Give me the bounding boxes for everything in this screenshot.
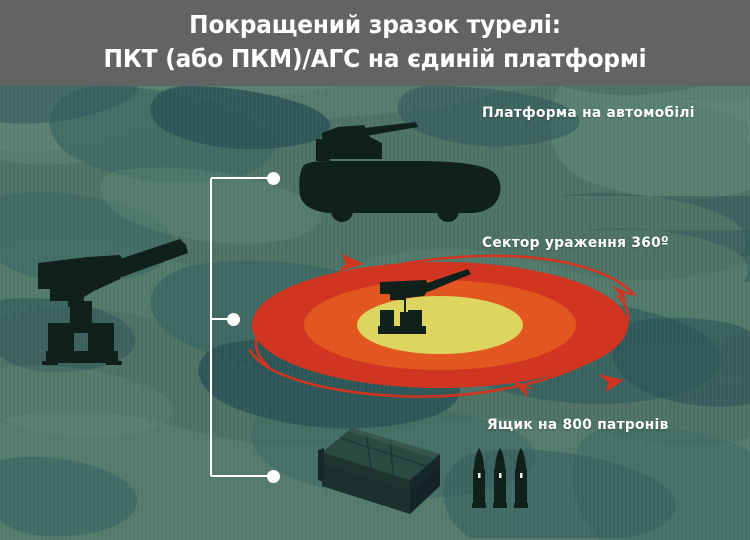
label-ammo-box: Ящик на 800 патронів bbox=[487, 417, 669, 433]
label-platform-vehicle: Платформа на автомобілі bbox=[482, 105, 695, 121]
header-bar: Покращений зразок турелі: ПКТ (або ПКМ)/… bbox=[0, 0, 750, 86]
callout-dot-platform[interactable] bbox=[267, 172, 280, 185]
page-title: Покращений зразок турелі: ПКТ (або ПКМ)/… bbox=[26, 8, 724, 76]
callout-dot-ammo[interactable] bbox=[267, 470, 280, 483]
label-sector-360: Сектор ураження 360º bbox=[482, 235, 669, 251]
infographic-canvas: Платформа на автомобілі Сектор ураження … bbox=[0, 0, 750, 540]
callout-dot-sector[interactable] bbox=[227, 313, 240, 326]
